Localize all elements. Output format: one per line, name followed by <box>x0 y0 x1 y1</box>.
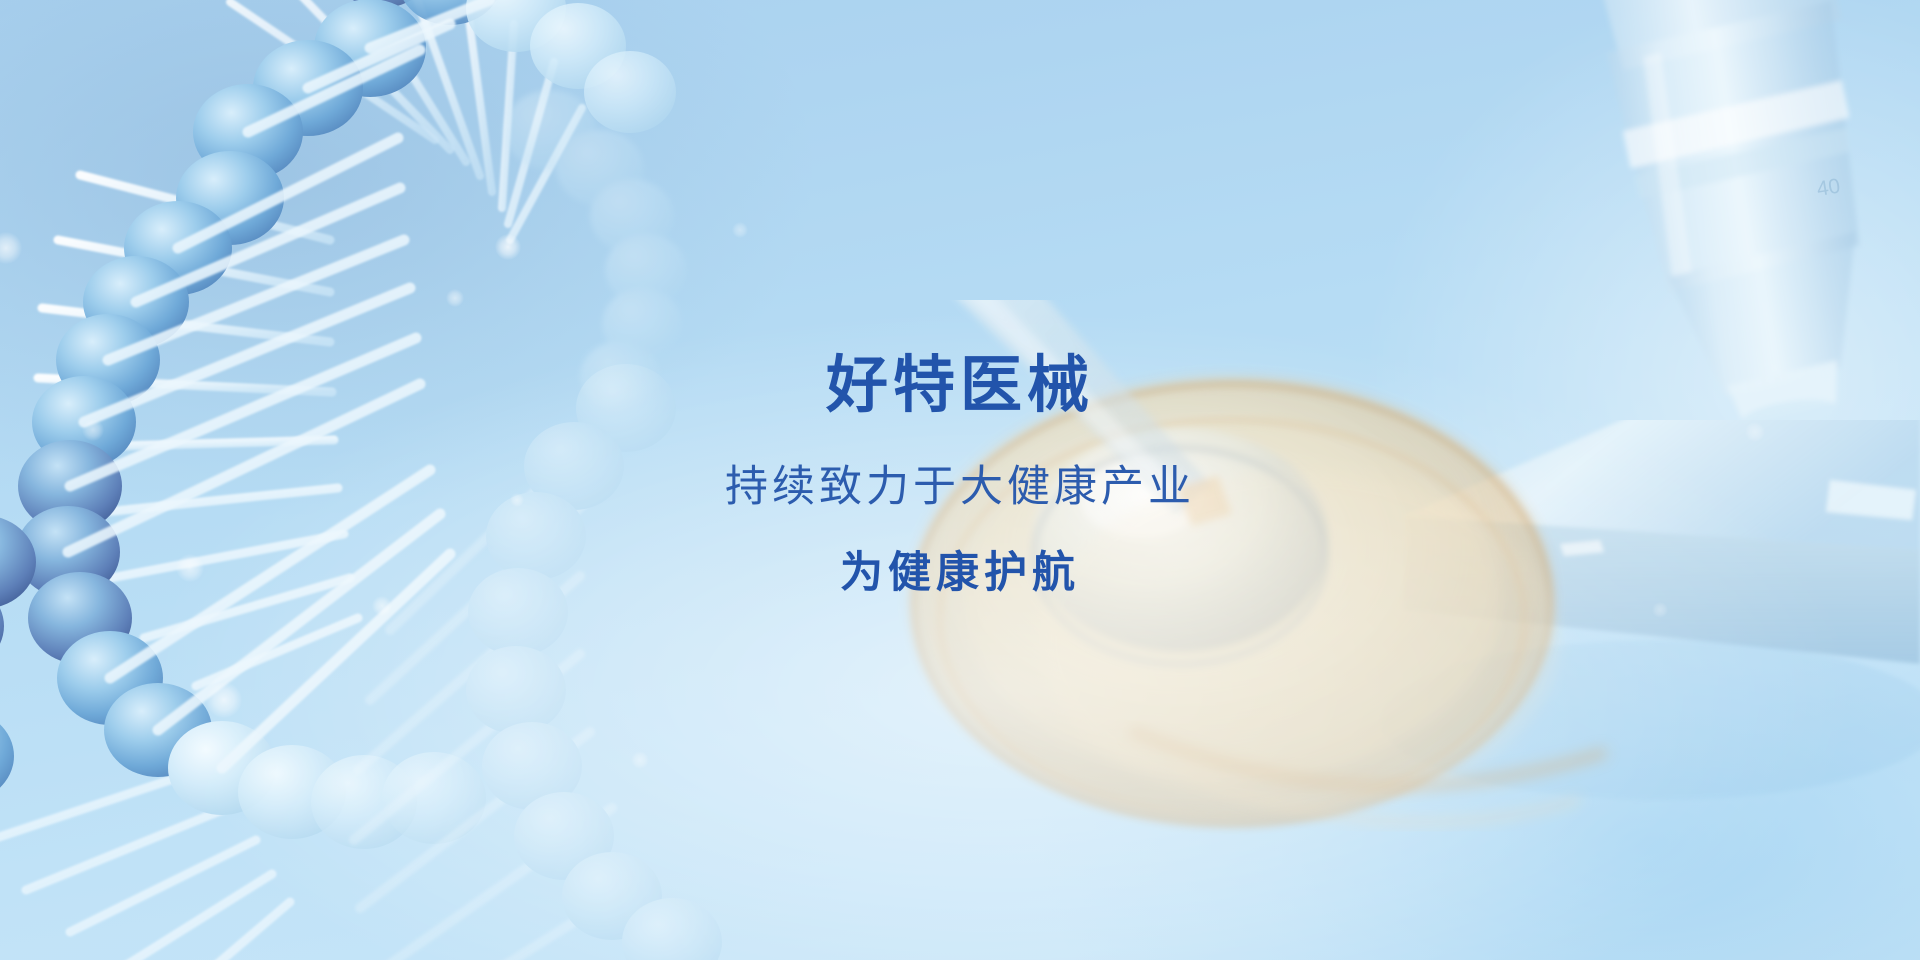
hero-banner: 40 <box>0 0 1920 960</box>
background-center-glow <box>0 0 1920 960</box>
